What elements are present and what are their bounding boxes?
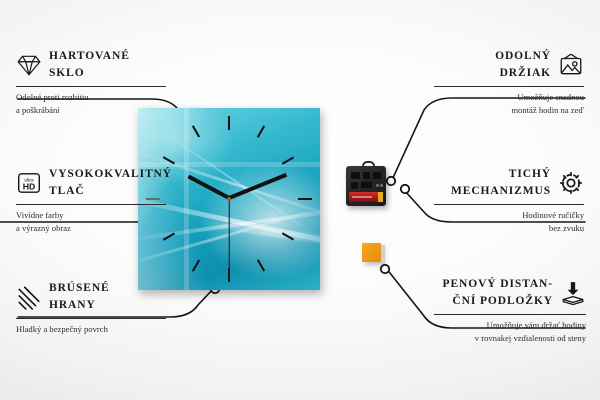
feature-title: VYSOKOKVALITNÝ [49, 166, 172, 183]
feature-title: ODOLNÝ [495, 48, 551, 65]
divider [434, 314, 586, 315]
feature-foam-spacers: PENOVÝ DISTAN- ČNÍ PODLOŽKY Umožňuje vám… [434, 276, 586, 345]
mechanism-battery [349, 192, 383, 202]
divider [434, 86, 584, 87]
feature-desc-line1: Umožňuje vám držať hodiny [434, 319, 586, 332]
feature-desc-line1: Vivídne farby [16, 209, 166, 222]
node-quiet [401, 185, 409, 193]
feature-title-line2: SKLO [49, 65, 130, 82]
feature-desc-line1: Umožňuje snadnou [434, 91, 584, 104]
feature-title: HARTOVANÉ [49, 48, 130, 65]
feature-title: PENOVÝ DISTAN- [443, 276, 553, 293]
feature-desc-line2: montáž hodin na zeď [434, 104, 584, 117]
divider [16, 318, 166, 319]
feature-desc-line2: a výrazný obraz [16, 222, 166, 235]
feature-title: TICHÝ [451, 166, 551, 183]
mechanism-shaft [362, 161, 375, 170]
feature-polished-edges: BRÚSENÉ HRANY Hladký a bezpečný povrch [16, 280, 166, 336]
clock-mechanism [346, 166, 386, 206]
divider [16, 204, 166, 205]
feature-desc-line1: Hladký a bezpečný povrch [16, 323, 166, 336]
feature-title: BRÚSENÉ [49, 280, 110, 297]
polished-edges-icon [16, 284, 42, 310]
feature-tempered-glass: HARTOVANÉ SKLO Odolné proti rozbitiu a p… [16, 48, 166, 117]
feature-desc-line2: a poškrábání [16, 104, 166, 117]
feature-desc-line1: Odolné proti rozbitiu [16, 91, 166, 104]
feature-title-line2: HRANY [49, 297, 110, 314]
diamond-icon [16, 52, 42, 78]
feature-desc-line2: v rovnakej vzdialenosti od steny [434, 332, 586, 345]
feature-title-line2: MECHANIZMUS [451, 183, 551, 200]
feature-durable-holder: ODOLNÝ DRŽIAK Umožňuje snadnou montáž ho… [434, 48, 584, 117]
node-holder [387, 177, 395, 185]
feature-quiet-mechanism: TICHÝ MECHANIZMUS Hodinové ručičky bez z… [434, 166, 584, 235]
divider [16, 86, 166, 87]
foam-pad-icon [560, 280, 586, 306]
picture-hanger-icon [558, 52, 584, 78]
ultra-hd-icon: ultra HD [16, 170, 42, 196]
feature-high-quality-print: ultra HD VYSOKOKVALITNÝ TLAČ Vivídne far… [16, 166, 166, 235]
feature-desc-line2: bez zvuku [434, 222, 584, 235]
feature-title-line2: ČNÍ PODLOŽKY [443, 293, 553, 310]
feature-desc-line1: Hodinové ručičky [434, 209, 584, 222]
infographic-canvas: HARTOVANÉ SKLO Odolné proti rozbitiu a p… [0, 0, 600, 400]
node-foam [381, 265, 389, 273]
svg-text:HD: HD [23, 181, 36, 191]
foam-spacer-pad [362, 243, 381, 262]
gear-icon [558, 170, 584, 196]
clock-second-hand [228, 198, 229, 270]
feature-title-line2: TLAČ [49, 183, 172, 200]
clock-hub [227, 197, 231, 201]
feature-title-line2: DRŽIAK [495, 65, 551, 82]
divider [434, 204, 584, 205]
